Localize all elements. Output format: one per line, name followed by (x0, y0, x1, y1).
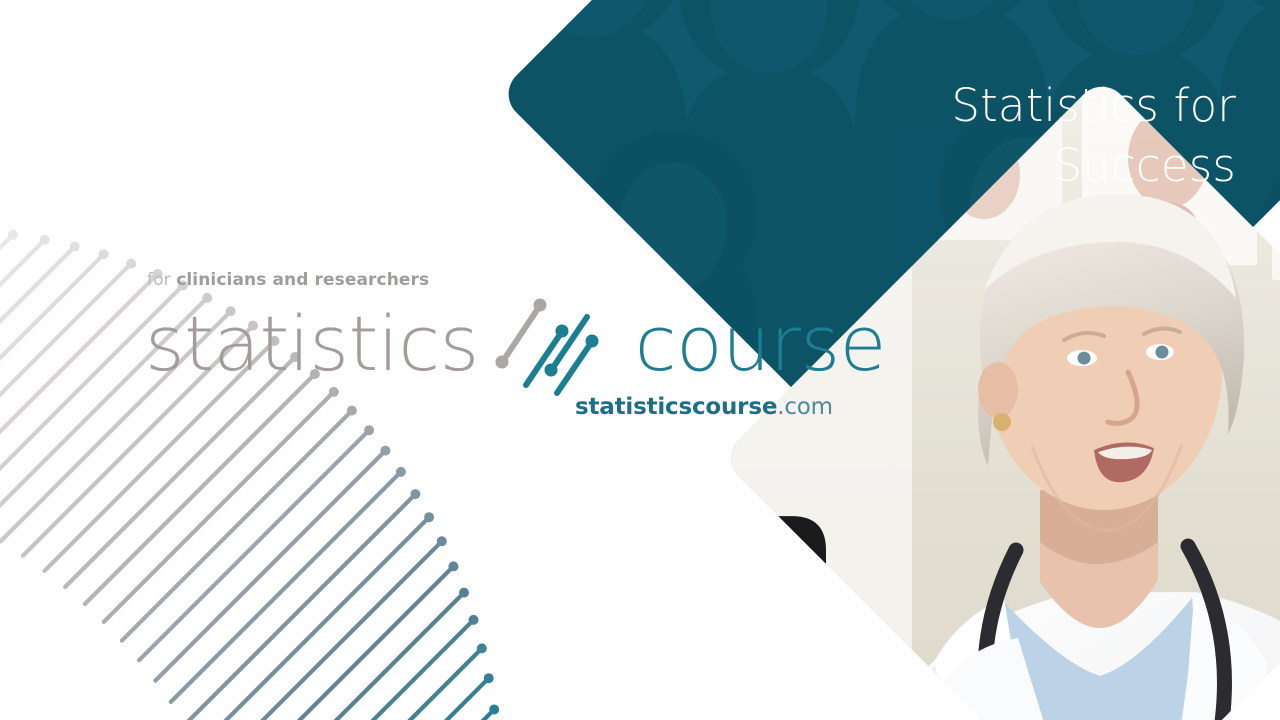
domain-name: statisticscourse (575, 394, 777, 420)
logo-tagline: for clinicians and researchers (147, 270, 805, 290)
wordmark-course: course (635, 306, 886, 382)
domain-tld: .com (777, 394, 833, 420)
page-title: Statistics for Success (766, 76, 1236, 196)
tagline-bold: clinicians and researchers (176, 270, 429, 290)
tagline-lead: for (147, 270, 176, 290)
website-domain: statisticscourse.com (575, 394, 805, 420)
wordmark-statistics: statistics (145, 306, 479, 382)
wordmark: statistics course (145, 296, 805, 392)
logo-lockup: for clinicians and researchers statistic… (145, 270, 805, 420)
slide-canvas: Statistics for Success for clinicians an… (0, 0, 1280, 720)
four-slashes-with-dots-mark (495, 289, 613, 399)
